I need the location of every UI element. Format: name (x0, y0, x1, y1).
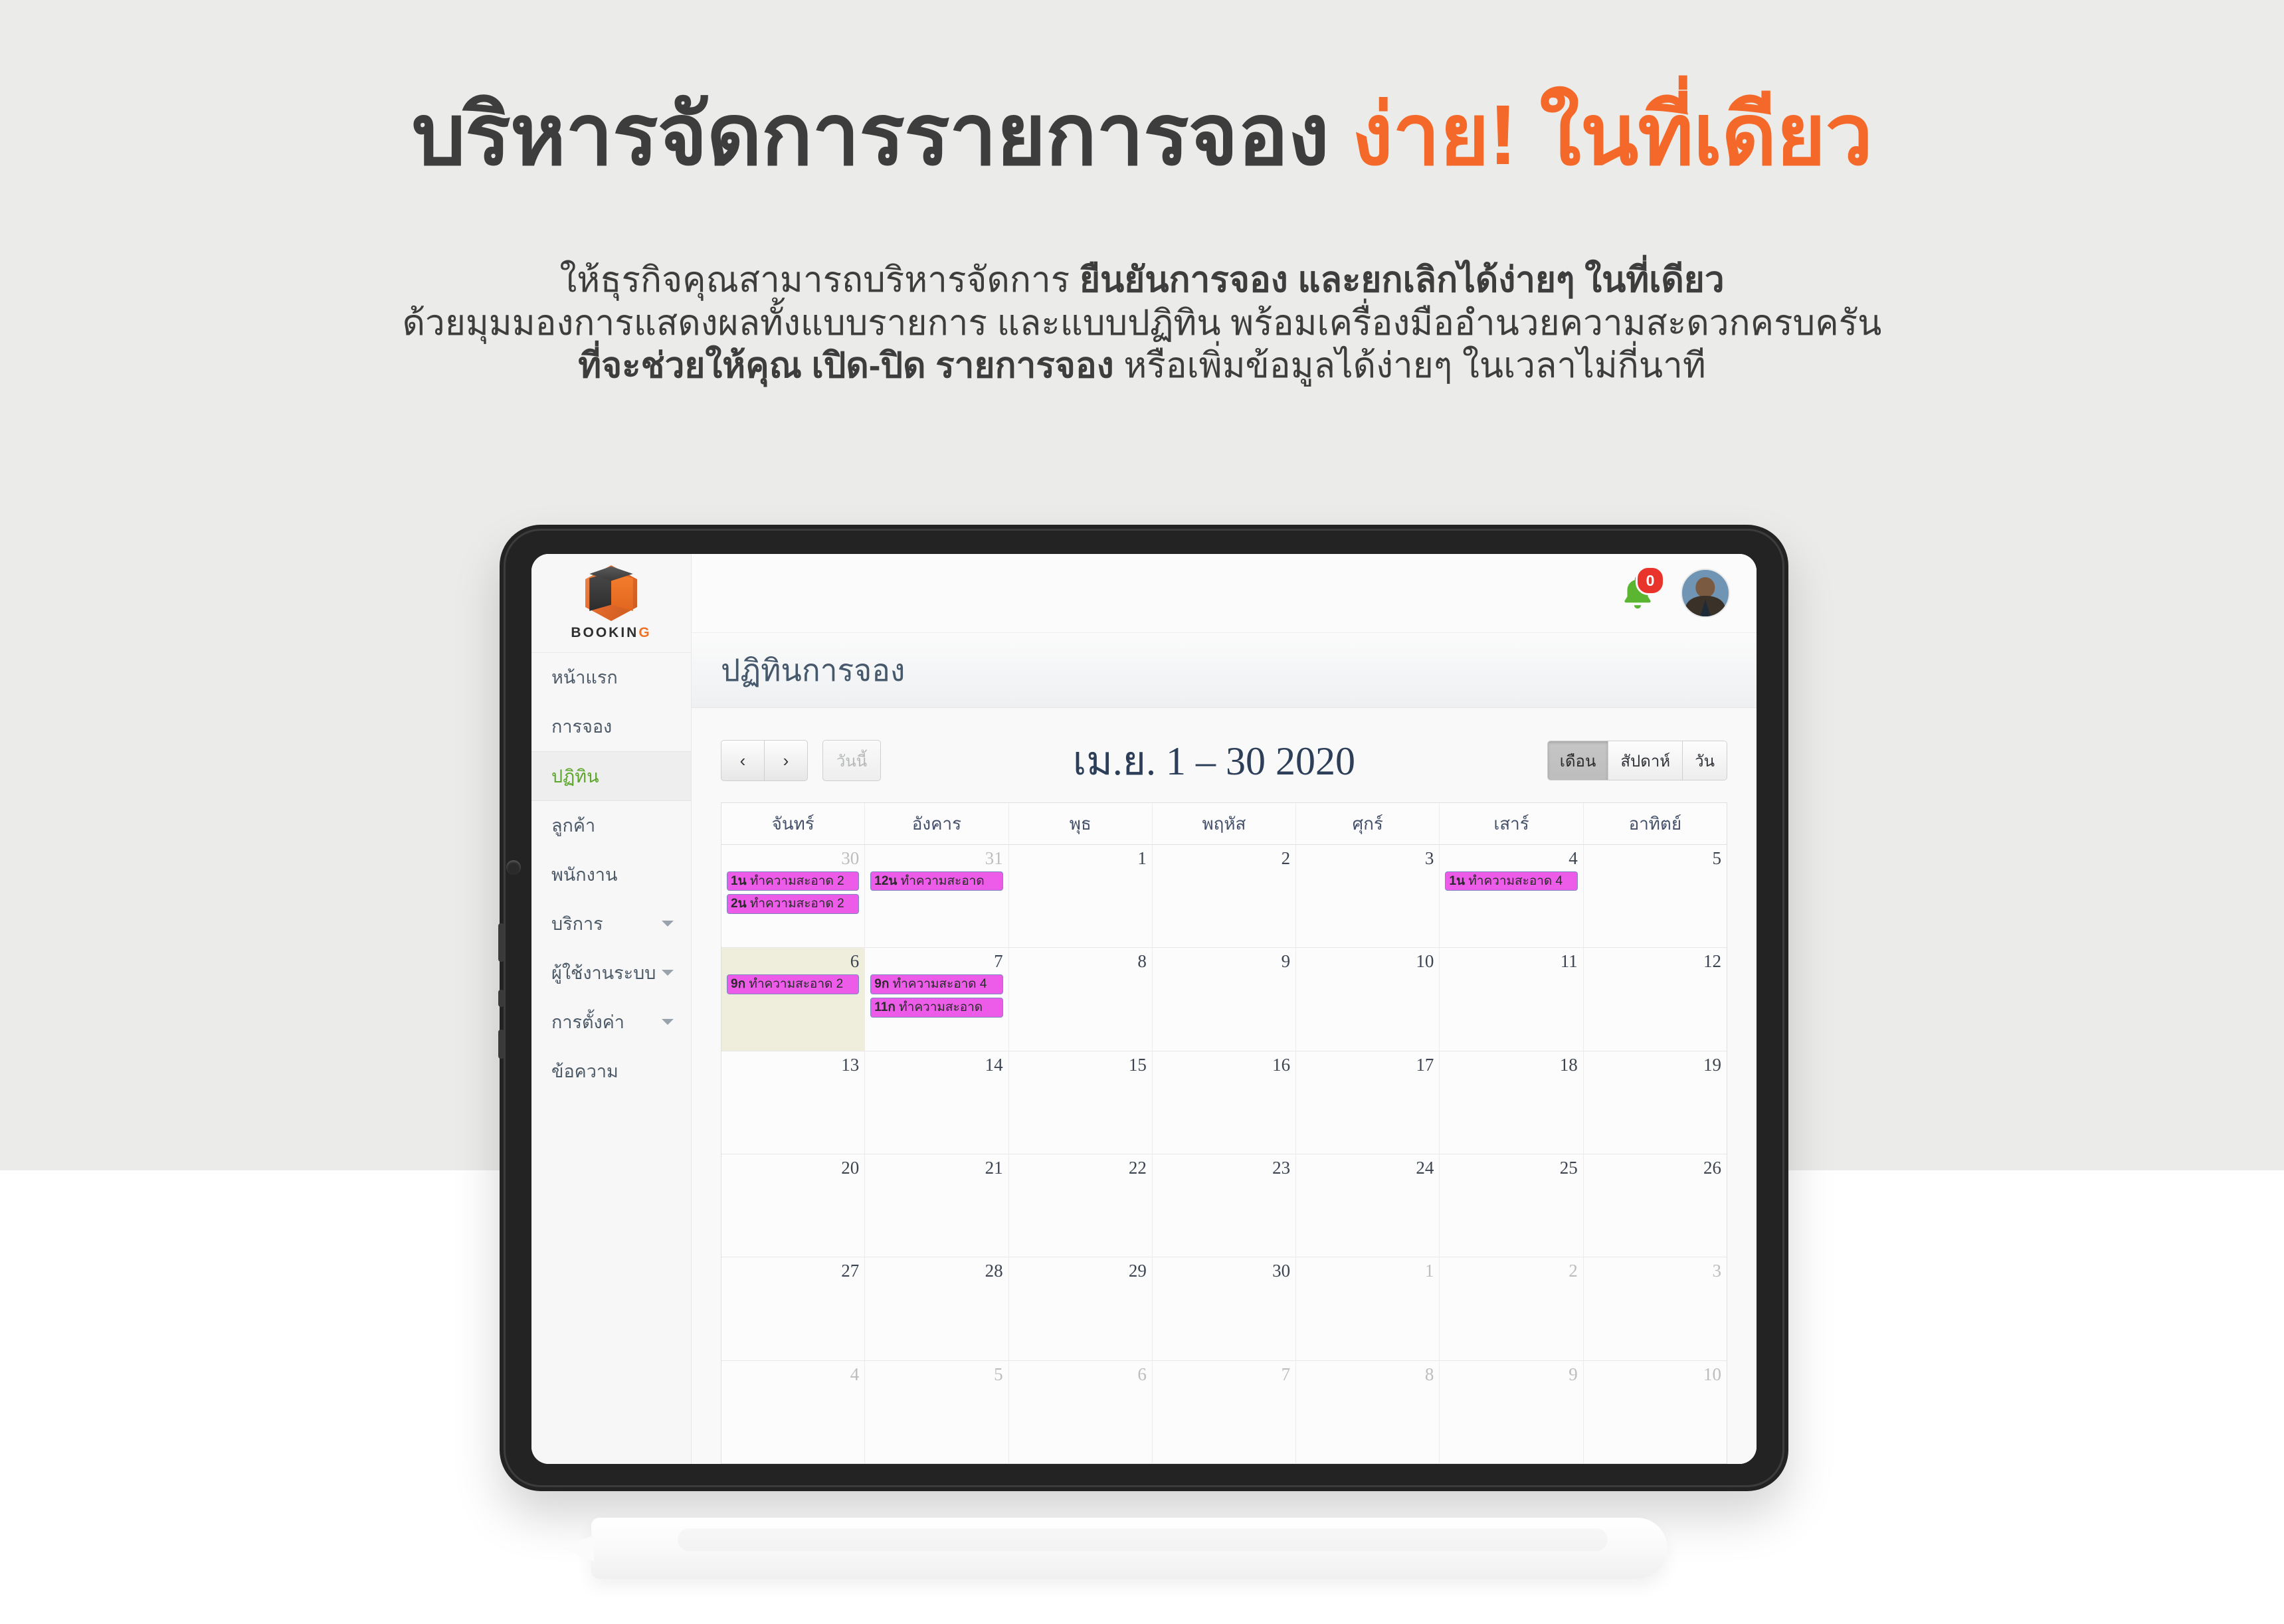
day-header-2: พุธ (1009, 803, 1153, 844)
topbar: 0 (692, 554, 1757, 633)
subtitle-line-3-normal: หรือเพิ่มข้อมูลได้ง่ายๆ ในเวลาไม่กี่นาที (1123, 346, 1706, 385)
calendar-day-cell[interactable]: 41น ทำความสะอาด 4 (1440, 845, 1583, 947)
day-number: 30 (1158, 1261, 1290, 1281)
logo-wordmark: BOOKING (571, 625, 651, 641)
subtitle-line-1-bold: ยืนยันการจอง และยกเลิกได้ง่ายๆ ในที่เดีย… (1080, 260, 1725, 300)
calendar-nav-group: ‹ › (721, 740, 808, 781)
day-number: 16 (1158, 1055, 1290, 1075)
chevron-down-icon (662, 1019, 674, 1025)
calendar-day-cell[interactable]: 14 (865, 1051, 1008, 1154)
stylus-groove (678, 1528, 1608, 1551)
sidebar-item-label: บริการ (551, 909, 603, 938)
calendar-day-cell[interactable]: 26 (1584, 1154, 1727, 1257)
calendar-day-cell[interactable]: 22 (1009, 1154, 1153, 1257)
day-number: 24 (1301, 1158, 1434, 1178)
calendar-event[interactable]: 11ก ทำความสะอาด (870, 998, 1002, 1018)
day-number: 2 (1445, 1261, 1577, 1281)
tablet-device-mockup: BOOKING หน้าแรกการจองปฏิทินลูกค้าพนักงาน… (500, 525, 1788, 1491)
day-number: 23 (1158, 1158, 1290, 1178)
day-number: 6 (727, 952, 859, 972)
sidebar-item-3[interactable]: ลูกค้า (531, 801, 691, 850)
day-number: 11 (1445, 952, 1577, 972)
calendar-day-cell[interactable]: 17 (1296, 1051, 1440, 1154)
sidebar-item-label: ข้อความ (551, 1057, 619, 1085)
calendar-day-cell[interactable]: 5 (865, 1361, 1008, 1463)
day-number: 10 (1301, 952, 1434, 972)
day-number: 25 (1445, 1158, 1577, 1178)
sidebar-item-6[interactable]: ผู้ใช้งานระบบ (531, 948, 691, 998)
day-number: 1 (1014, 849, 1147, 869)
day-number: 29 (1014, 1261, 1147, 1281)
notifications-button[interactable]: 0 (1617, 573, 1658, 614)
day-number: 18 (1445, 1055, 1577, 1075)
headline-plain-text: บริหารจัดการรายการจอง (412, 88, 1329, 183)
sidebar-item-1[interactable]: การจอง (531, 702, 691, 751)
sidebar-item-label: การจอง (551, 712, 612, 741)
tablet-screen: BOOKING หน้าแรกการจองปฏิทินลูกค้าพนักงาน… (531, 554, 1757, 1464)
sidebar-item-8[interactable]: ข้อความ (531, 1047, 691, 1096)
tablet-power-button[interactable] (498, 1030, 504, 1059)
calendar-day-cell[interactable]: 7 (1153, 1361, 1296, 1463)
chevron-down-icon (662, 921, 674, 927)
day-number: 13 (727, 1055, 859, 1075)
main-area: 0 ปฏิทินการจอง ‹ › วันนี้ (692, 554, 1757, 1464)
prev-month-button[interactable]: ‹ (721, 740, 764, 781)
calendar-week-row: 20212223242526 (721, 1154, 1727, 1257)
sidebar-item-label: ปฏิทิน (551, 762, 599, 790)
logo-wordmark-accent: G (638, 625, 651, 640)
calendar-day-cell[interactable]: 19 (1584, 1051, 1727, 1154)
stylus-pen (591, 1518, 1667, 1579)
calendar-week-row: 69ก ทำความสะอาด 279ก ทำความสะอาด 411ก ทำ… (721, 948, 1727, 1051)
cube-logo-icon (585, 565, 637, 621)
sidebar-item-7[interactable]: การตั้งค่า (531, 998, 691, 1047)
logo-wordmark-main: BOOKIN (571, 625, 638, 640)
sidebar-item-label: ลูกค้า (551, 811, 595, 840)
calendar-day-cell[interactable]: 20 (721, 1154, 865, 1257)
day-header-4: ศุกร์ (1296, 803, 1440, 844)
subtitle-line-1-normal: ให้ธุรกิจคุณสามารถบริหารจัดการ (559, 260, 1080, 300)
calendar-event[interactable]: 9ก ทำความสะอาด 4 (870, 974, 1002, 994)
sidebar-item-2[interactable]: ปฏิทิน (531, 751, 691, 801)
day-header-1: อังคาร (865, 803, 1008, 844)
tablet-volume-up-button[interactable] (498, 923, 504, 962)
calendar-day-cell[interactable]: 9 (1440, 1361, 1583, 1463)
day-number: 3 (1589, 1261, 1721, 1281)
day-number: 7 (1158, 1365, 1290, 1385)
day-number: 9 (1158, 952, 1290, 972)
calendar-day-cell[interactable]: 12 (1584, 948, 1727, 1050)
calendar-day-cell[interactable]: 2 (1440, 1257, 1583, 1360)
calendar-event[interactable]: 1น ทำความสะอาด 2 (727, 871, 859, 891)
subtitle-line-2: ด้วยมุมมองการแสดงผลทั้งแบบรายการ และแบบป… (0, 302, 2284, 345)
today-button[interactable]: วันนี้ (822, 740, 881, 781)
calendar-day-cell[interactable]: 69ก ทำความสะอาด 2 (721, 948, 865, 1050)
sidebar-item-4[interactable]: พนักงาน (531, 850, 691, 899)
day-number: 5 (1589, 849, 1721, 869)
calendar-day-cell[interactable]: 79ก ทำความสะอาด 411ก ทำความสะอาด (865, 948, 1008, 1050)
day-number: 15 (1014, 1055, 1147, 1075)
page-header: ปฏิทินการจอง (692, 633, 1757, 708)
sidebar-item-label: พนักงาน (551, 860, 617, 889)
calendar-day-cell[interactable]: 29 (1009, 1257, 1153, 1360)
day-number: 8 (1014, 952, 1147, 972)
calendar-day-cell[interactable]: 5 (1584, 845, 1727, 947)
calendar-day-cell[interactable]: 23 (1153, 1154, 1296, 1257)
page-subtitle: ให้ธุรกิจคุณสามารถบริหารจัดการ ยืนยันการ… (0, 259, 2284, 388)
day-number: 31 (870, 849, 1002, 869)
day-number: 4 (1445, 849, 1577, 869)
sidebar-item-label: ผู้ใช้งานระบบ (551, 958, 656, 987)
calendar-day-cell[interactable]: 16 (1153, 1051, 1296, 1154)
day-number: 6 (1014, 1365, 1147, 1385)
day-number: 7 (870, 952, 1002, 972)
calendar-day-cell[interactable]: 10 (1584, 1361, 1727, 1463)
calendar-day-cell[interactable]: 24 (1296, 1154, 1440, 1257)
calendar-day-cell[interactable]: 13 (721, 1051, 865, 1154)
calendar-day-cell[interactable]: 25 (1440, 1154, 1583, 1257)
sidebar-item-label: หน้าแรก (551, 663, 618, 691)
tablet-camera-icon (506, 860, 521, 875)
calendar-day-cell[interactable]: 3112น ทำความสะอาด (865, 845, 1008, 947)
calendar-day-cell[interactable]: 8 (1296, 1361, 1440, 1463)
calendar-week-row: 301น ทำความสะอาด 22น ทำความสะอาด 23112น … (721, 845, 1727, 948)
day-header-3: พฤหัส (1153, 803, 1296, 844)
view-button-2[interactable]: วัน (1683, 741, 1727, 780)
app-logo[interactable]: BOOKING (531, 554, 691, 653)
calendar-day-cell[interactable]: 8 (1009, 948, 1153, 1050)
day-number: 12 (1589, 952, 1721, 972)
day-number: 1 (1301, 1261, 1434, 1281)
calendar-day-cell[interactable]: 9 (1153, 948, 1296, 1050)
calendar-day-cell[interactable]: 2 (1153, 845, 1296, 947)
calendar-day-headers: จันทร์อังคารพุธพฤหัสศุกร์เสาร์อาทิตย์ (721, 803, 1727, 845)
day-header-6: อาทิตย์ (1584, 803, 1727, 844)
day-number: 22 (1014, 1158, 1147, 1178)
calendar-day-cell[interactable]: 3 (1584, 1257, 1727, 1360)
day-number: 8 (1301, 1365, 1434, 1385)
view-button-1[interactable]: สัปดาห์ (1608, 741, 1683, 780)
calendar-day-cell[interactable]: 27 (721, 1257, 865, 1360)
day-number: 26 (1589, 1158, 1721, 1178)
sidebar-nav-list: หน้าแรกการจองปฏิทินลูกค้าพนักงานบริการผู… (531, 653, 691, 1096)
tablet-volume-down-button[interactable] (498, 990, 504, 1007)
calendar-day-cell[interactable]: 1 (1009, 845, 1153, 947)
calendar-day-cell[interactable]: 4 (721, 1361, 865, 1463)
day-number: 20 (727, 1158, 859, 1178)
avatar[interactable] (1681, 569, 1730, 618)
calendar-grid: จันทร์อังคารพุธพฤหัสศุกร์เสาร์อาทิตย์ 30… (721, 802, 1727, 1464)
next-month-button[interactable]: › (764, 740, 808, 781)
page-headline: บริหารจัดการรายการจอง ง่าย! ในที่เดียว (0, 86, 2284, 184)
day-number: 14 (870, 1055, 1002, 1075)
view-button-0[interactable]: เดือน (1548, 741, 1609, 780)
day-number: 19 (1589, 1055, 1721, 1075)
calendar-event[interactable]: 9ก ทำความสะอาด 2 (727, 974, 859, 994)
calendar-day-cell[interactable]: 1 (1296, 1257, 1440, 1360)
calendar-event[interactable]: 1น ทำความสะอาด 4 (1445, 871, 1577, 891)
day-number: 9 (1445, 1365, 1577, 1385)
calendar-title: เม.ย. 1 – 30 2020 (881, 729, 1547, 792)
calendar-day-cell[interactable]: 28 (865, 1257, 1008, 1360)
calendar-day-cell[interactable]: 10 (1296, 948, 1440, 1050)
calendar-day-cell[interactable]: 15 (1009, 1051, 1153, 1154)
page-title: ปฏิทินการจอง (721, 646, 905, 695)
subtitle-line-1: ให้ธุรกิจคุณสามารถบริหารจัดการ ยืนยันการ… (0, 259, 2284, 302)
calendar-day-cell[interactable]: 30 (1153, 1257, 1296, 1360)
calendar-day-cell[interactable]: 11 (1440, 948, 1583, 1050)
calendar-view-switcher: เดือนสัปดาห์วัน (1547, 741, 1727, 780)
calendar-day-cell[interactable]: 6 (1009, 1361, 1153, 1463)
calendar-week-row: 27282930123 (721, 1257, 1727, 1360)
sidebar: BOOKING หน้าแรกการจองปฏิทินลูกค้าพนักงาน… (531, 554, 692, 1464)
calendar-day-cell[interactable]: 21 (865, 1154, 1008, 1257)
sidebar-item-label: การตั้งค่า (551, 1008, 624, 1036)
day-number: 21 (870, 1158, 1002, 1178)
day-number: 5 (870, 1365, 1002, 1385)
sidebar-item-5[interactable]: บริการ (531, 899, 691, 948)
calendar-day-cell[interactable]: 301น ทำความสะอาด 22น ทำความสะอาด 2 (721, 845, 865, 947)
notification-badge: 0 (1636, 566, 1665, 595)
subtitle-line-3: ที่จะช่วยให้คุณ เปิด-ปิด รายการจอง หรือเ… (0, 345, 2284, 388)
day-number: 3 (1301, 849, 1434, 869)
calendar-day-cell[interactable]: 18 (1440, 1051, 1583, 1154)
calendar-weeks: 301น ทำความสะอาด 22น ทำความสะอาด 23112น … (721, 845, 1727, 1464)
calendar-week-row: 13141516171819 (721, 1051, 1727, 1154)
subtitle-line-3-bold: ที่จะช่วยให้คุณ เปิด-ปิด รายการจอง (578, 346, 1123, 385)
day-header-5: เสาร์ (1440, 803, 1583, 844)
calendar-toolbar: ‹ › วันนี้ เม.ย. 1 – 30 2020 เดือนสัปดาห… (721, 735, 1727, 786)
calendar-event[interactable]: 2น ทำความสะอาด 2 (727, 894, 859, 914)
stylus-tip (562, 1535, 594, 1562)
day-number: 10 (1589, 1365, 1721, 1385)
chevron-down-icon (662, 970, 674, 976)
day-number: 28 (870, 1261, 1002, 1281)
day-number: 4 (727, 1365, 859, 1385)
day-number: 2 (1158, 849, 1290, 869)
booking-app: BOOKING หน้าแรกการจองปฏิทินลูกค้าพนักงาน… (531, 554, 1757, 1464)
calendar-content: ‹ › วันนี้ เม.ย. 1 – 30 2020 เดือนสัปดาห… (692, 708, 1757, 1464)
calendar-event[interactable]: 12น ทำความสะอาด (870, 871, 1002, 891)
day-header-0: จันทร์ (721, 803, 865, 844)
headline-accent-text: ง่าย! ในที่เดียว (1352, 88, 1873, 183)
day-number: 17 (1301, 1055, 1434, 1075)
calendar-week-row: 45678910 (721, 1361, 1727, 1464)
sidebar-item-0[interactable]: หน้าแรก (531, 653, 691, 702)
day-number: 30 (727, 849, 859, 869)
day-number: 27 (727, 1261, 859, 1281)
calendar-day-cell[interactable]: 3 (1296, 845, 1440, 947)
